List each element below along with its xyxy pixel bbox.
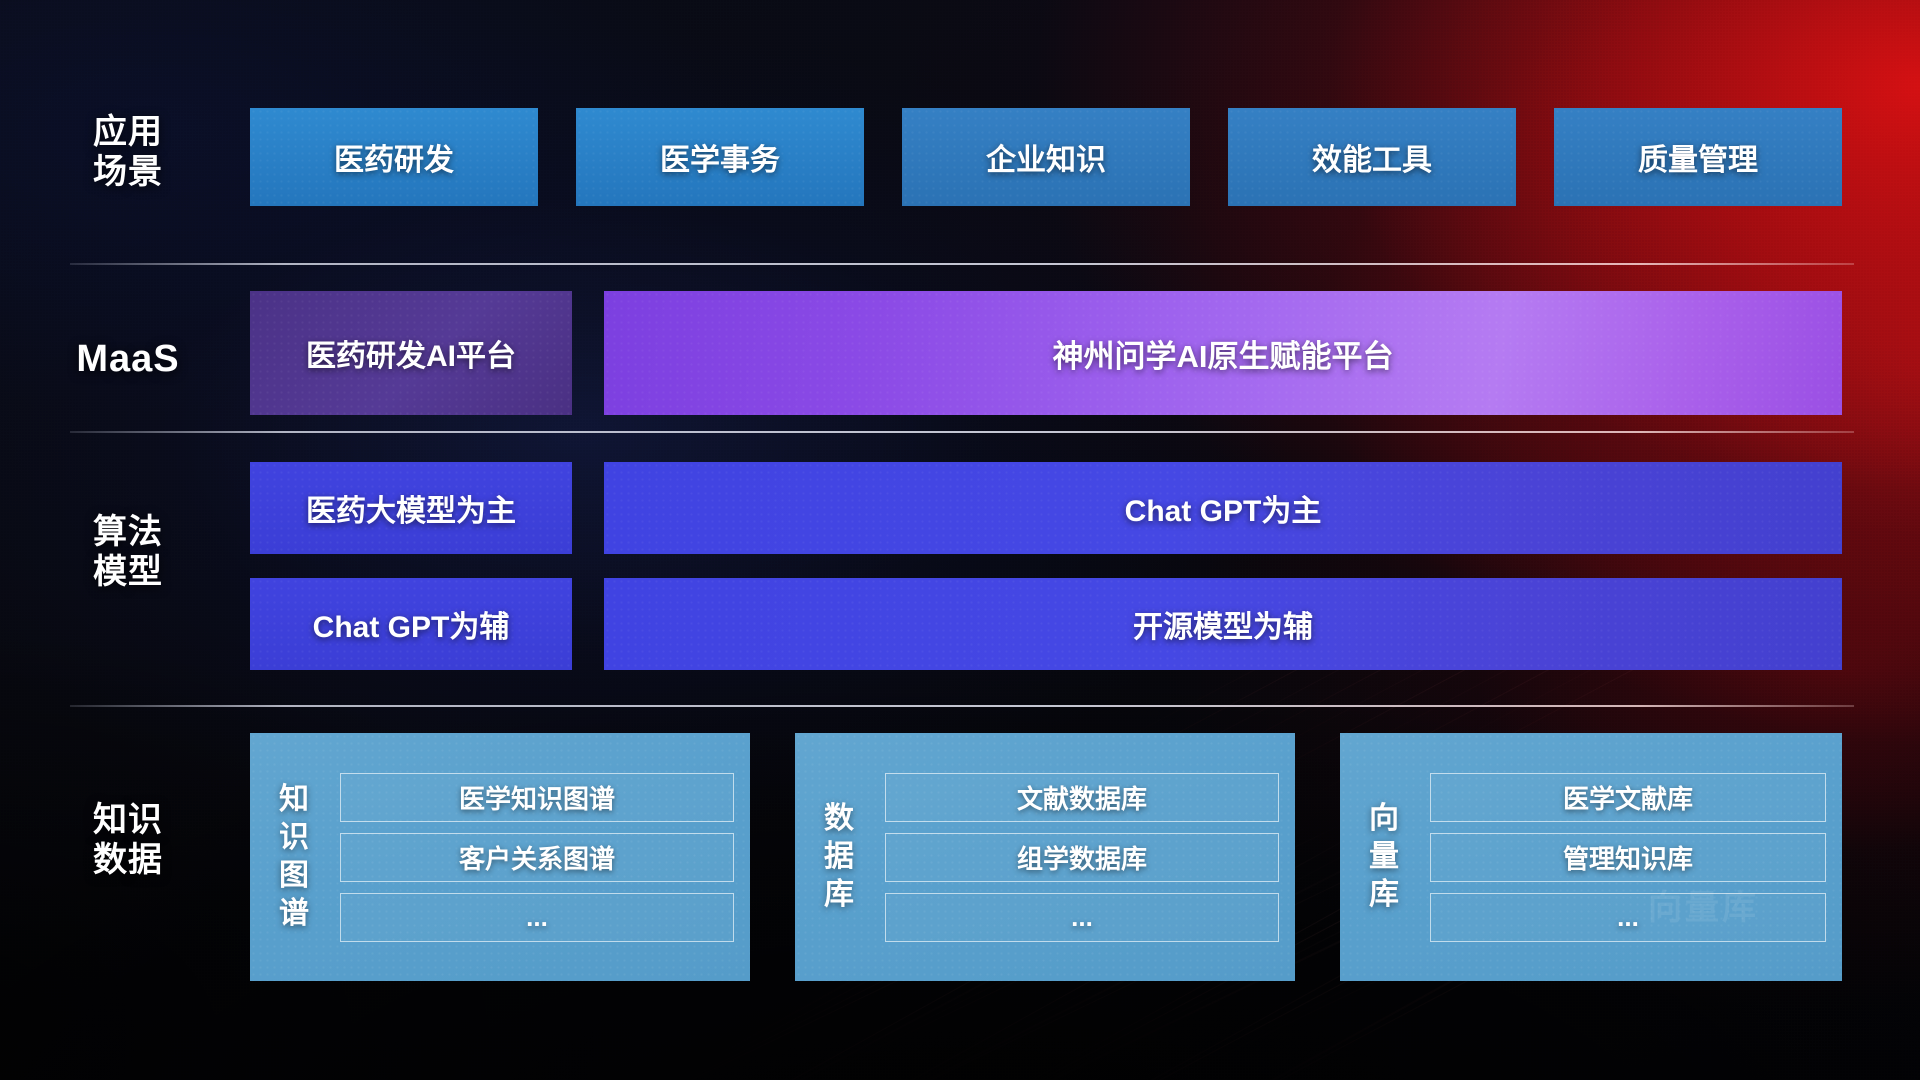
knowledge-group-database[interactable]: 数 据 库 文献数据库 组学数据库 ... [795,733,1295,981]
maas-box-pharma-ai-platform[interactable]: 医药研发AI平台 [250,291,572,415]
knowledge-item-2-3[interactable]: ... [885,893,1279,942]
row-label-knowledge-data: 知识 数据 [58,800,198,880]
algorithm-box-chatgpt-primary[interactable]: Chat GPT为主 [604,462,1842,554]
knowledge-group-title-3: 向 量 库 [1352,747,1416,967]
app-scenario-label-2: 医学事务 [660,135,780,179]
row-label-maas: MaaS [58,337,198,382]
maas-label-pharma-ai-platform: 医药研发AI平台 [306,331,516,375]
app-scenario-box-4[interactable]: 效能工具 [1228,108,1516,206]
app-scenario-label-5: 质量管理 [1638,135,1758,179]
algorithm-label-chatgpt-secondary: Chat GPT为辅 [313,602,510,646]
algorithm-box-opensource-secondary[interactable]: 开源模型为辅 [604,578,1842,670]
architecture-diagram: 应用 场景 医药研发 医学事务 企业知识 效能工具 质量管理 MaaS 医药研发… [0,0,1920,1080]
knowledge-group-vector-database[interactable]: 向 量 库 医学文献库 管理知识库 ... [1340,733,1842,981]
divider-1 [70,263,1854,265]
algorithm-label-chatgpt-primary: Chat GPT为主 [1125,486,1322,530]
knowledge-item-2-1[interactable]: 文献数据库 [885,773,1279,822]
divider-3 [70,705,1854,707]
knowledge-group-items-3: 医学文献库 管理知识库 ... [1416,747,1826,967]
divider-2 [70,431,1854,433]
app-scenario-label-3: 企业知识 [986,135,1106,179]
row-label-algorithm-model: 算法 模型 [58,512,198,592]
knowledge-group-knowledge-graph[interactable]: 知 识 图 谱 医学知识图谱 客户关系图谱 ... [250,733,750,981]
knowledge-item-3-2[interactable]: 管理知识库 [1430,833,1826,882]
algorithm-label-opensource-secondary: 开源模型为辅 [1133,602,1313,646]
algorithm-label-pharma-llm-primary: 医药大模型为主 [306,486,516,530]
knowledge-item-3-3[interactable]: ... [1430,893,1826,942]
knowledge-item-1-2[interactable]: 客户关系图谱 [340,833,734,882]
app-scenario-label-1: 医药研发 [334,135,454,179]
knowledge-item-3-1[interactable]: 医学文献库 [1430,773,1826,822]
algorithm-box-pharma-llm-primary[interactable]: 医药大模型为主 [250,462,572,554]
algorithm-box-chatgpt-secondary[interactable]: Chat GPT为辅 [250,578,572,670]
app-scenario-box-1[interactable]: 医药研发 [250,108,538,206]
knowledge-group-items-1: 医学知识图谱 客户关系图谱 ... [326,747,734,967]
knowledge-group-title-2: 数 据 库 [807,747,871,967]
app-scenario-label-4: 效能工具 [1312,135,1432,179]
app-scenario-box-3[interactable]: 企业知识 [902,108,1190,206]
app-scenario-box-2[interactable]: 医学事务 [576,108,864,206]
maas-label-shenzhou-wenxue-platform: 神州问学AI原生赋能平台 [1053,331,1394,376]
maas-box-shenzhou-wenxue-platform[interactable]: 神州问学AI原生赋能平台 [604,291,1842,415]
knowledge-group-items-2: 文献数据库 组学数据库 ... [871,747,1279,967]
knowledge-item-2-2[interactable]: 组学数据库 [885,833,1279,882]
knowledge-item-1-3[interactable]: ... [340,893,734,942]
app-scenario-box-5[interactable]: 质量管理 [1554,108,1842,206]
knowledge-group-title-1: 知 识 图 谱 [262,747,326,967]
knowledge-item-1-1[interactable]: 医学知识图谱 [340,773,734,822]
row-label-application-scenarios: 应用 场景 [58,112,198,192]
